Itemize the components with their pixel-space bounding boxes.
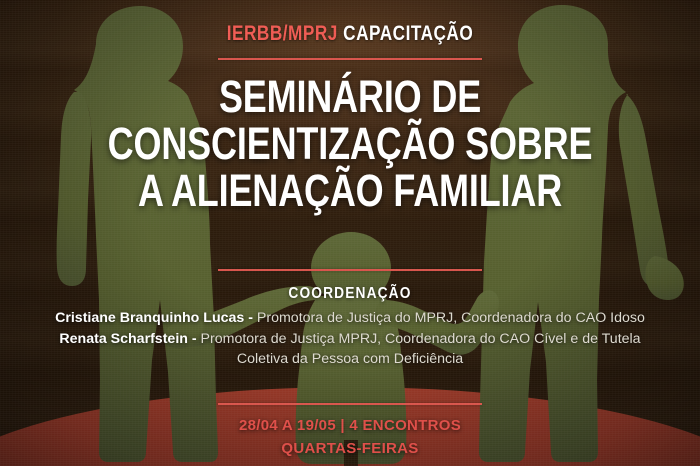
schedule-block: 28/04 A 19/05 | 4 ENCONTROS QUARTAS-FEIR… [0,415,700,461]
coordination-list: Cristiane Branquinho Lucas - Promotora d… [38,308,662,370]
headline-line-3: A ALIENAÇÃO FAMILIAR [70,168,630,215]
headline-line-2: CONSCIENTIZAÇÃO SOBRE [70,121,630,168]
poster-kicker: IERBB/MPRJ CAPACITAÇÃO [63,23,637,44]
kicker-brand: IERBB/MPRJ [227,22,338,45]
divider-rule-top [218,58,482,60]
headline-line-1: SEMINÁRIO DE [70,74,630,121]
schedule-weekday: QUARTAS-FEIRAS [0,438,700,461]
coordinator-entry: Cristiane Branquinho Lucas - Promotora d… [38,308,662,329]
coordination-label: COORDENAÇÃO [49,285,651,303]
poster-content: IERBB/MPRJ CAPACITAÇÃO SEMINÁRIO DE CONS… [0,0,700,466]
divider-rule-middle [218,269,482,271]
coordinator-name: Renata Scharfstein [59,331,188,347]
event-poster: IERBB/MPRJ CAPACITAÇÃO SEMINÁRIO DE CONS… [0,0,700,466]
kicker-program: CAPACITAÇÃO [343,22,473,45]
divider-rule-bottom [218,403,482,405]
schedule-dates: 28/04 A 19/05 | 4 ENCONTROS [0,415,700,438]
coordinator-entry: Renata Scharfstein - Promotora de Justiç… [38,329,662,370]
coordinator-role: Promotora de Justiça do MPRJ, Coordenado… [257,310,645,326]
coordinator-separator: - [188,331,201,347]
poster-headline: SEMINÁRIO DE CONSCIENTIZAÇÃO SOBRE A ALI… [0,74,700,214]
coordinator-role: Promotora de Justiça MPRJ, Coordenadora … [201,331,641,368]
coordinator-separator: - [244,310,257,326]
coordinator-name: Cristiane Branquinho Lucas [55,310,244,326]
